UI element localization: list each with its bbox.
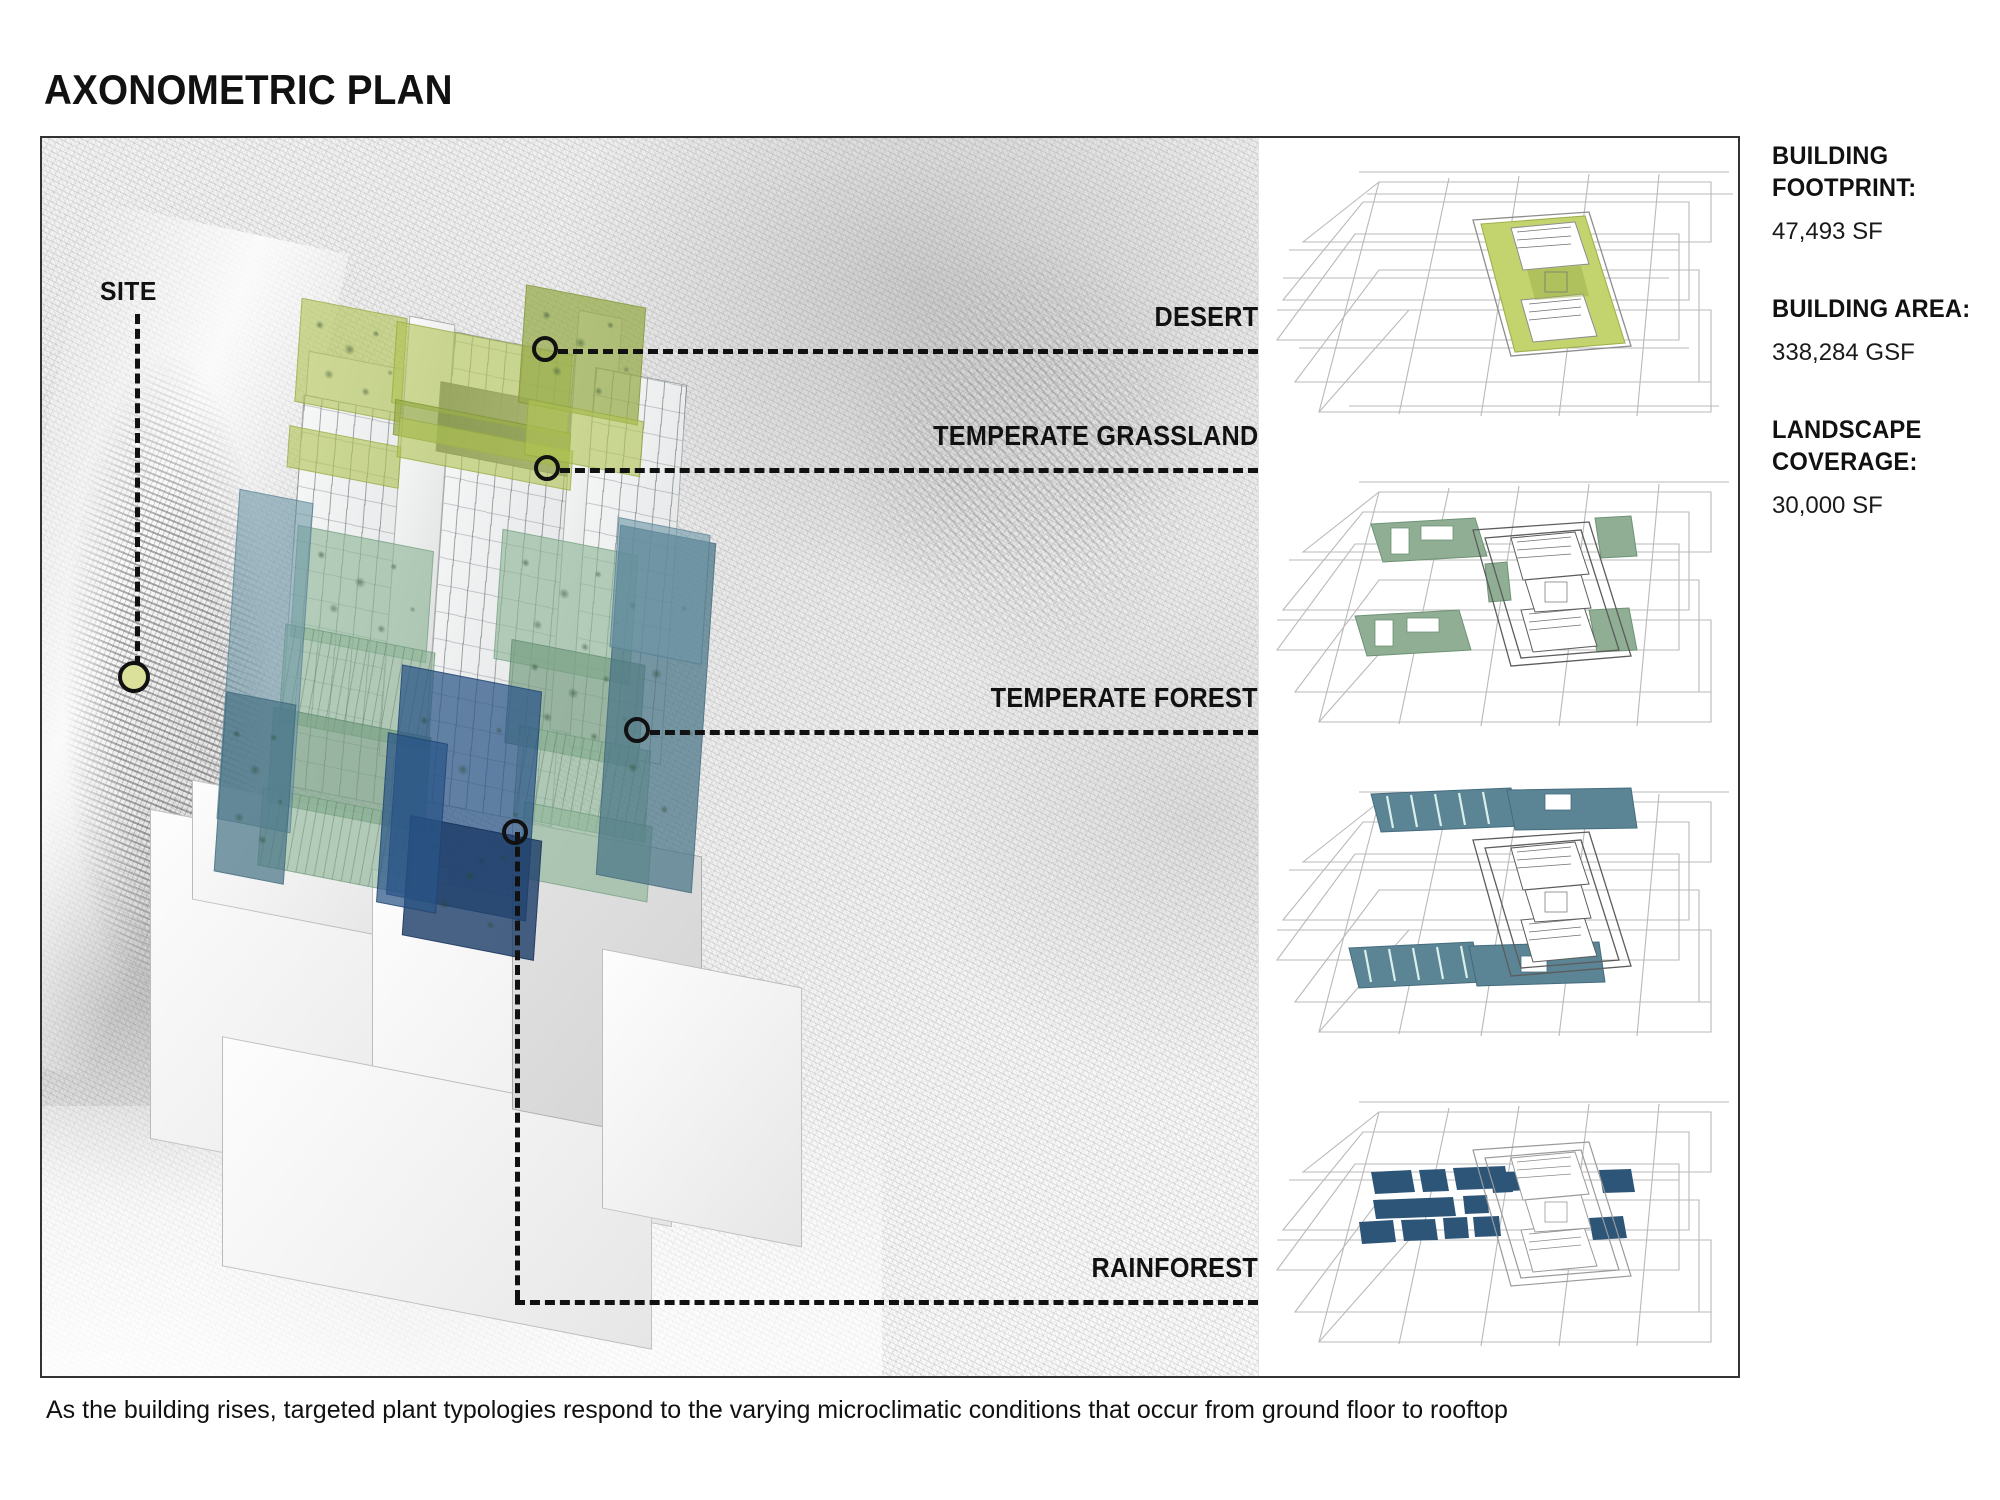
stat-value-area: 338,284 GSF: [1772, 337, 1982, 368]
page-title: AXONOMETRIC PLAN: [44, 66, 453, 114]
zone-desert-roof-west: [294, 298, 407, 423]
callout-label-desert: DESERT: [1154, 301, 1258, 333]
figure-caption: As the building rises, targeted plant ty…: [46, 1396, 1508, 1425]
stat-building-footprint: BUILDING FOOTPRINT: 47,493 SF: [1772, 140, 1982, 247]
site-marker-dot: [118, 661, 150, 693]
callout-label-grassland: TEMPERATE GRASSLAND: [933, 420, 1258, 452]
callout-dot-desert: [532, 336, 558, 362]
project-statistics: BUILDING FOOTPRINT: 47,493 SF BUILDING A…: [1772, 140, 1982, 568]
site-leader-line: [135, 314, 140, 666]
plan-diagram-grassland: [1259, 460, 1740, 770]
plan-grassland-svg: [1259, 460, 1740, 770]
stat-landscape-coverage: LANDSCAPE COVERAGE: 30,000 SF: [1772, 414, 1982, 521]
plan-desert-svg: [1259, 150, 1740, 460]
stat-label-area: BUILDING AREA:: [1772, 293, 1972, 325]
stat-building-area: BUILDING AREA: 338,284 GSF: [1772, 293, 1982, 368]
aerial-urban-fabric-right: [818, 198, 1238, 718]
drawing-frame: SITE DESERT TEMPERATE GRASSLAND TEMPERAT…: [40, 136, 1740, 1378]
callout-dot-forest: [624, 717, 650, 743]
plan-diagram-column: [1258, 138, 1740, 1376]
callout-line-forest: [650, 730, 1258, 735]
stat-label-landscape: LANDSCAPE COVERAGE:: [1772, 414, 1972, 478]
zone-forest-slab-west-lower: [214, 691, 297, 885]
callout-line-rainforest-vertical: [515, 832, 520, 1300]
axonometric-aerial-panel: SITE DESERT TEMPERATE GRASSLAND TEMPERAT…: [42, 138, 1258, 1376]
zone-rainforest-plaza: [376, 732, 448, 914]
site-label: SITE: [100, 276, 157, 307]
plan-diagram-rainforest: [1259, 1080, 1740, 1378]
plan-diagram-desert: [1259, 150, 1740, 460]
plan-forest-svg: [1259, 770, 1740, 1080]
callout-line-desert: [558, 349, 1258, 354]
stat-value-landscape: 30,000 SF: [1772, 490, 1982, 521]
callout-label-forest: TEMPERATE FOREST: [991, 682, 1258, 714]
callout-label-rainforest: RAINFOREST: [1092, 1252, 1259, 1284]
stat-label-footprint: BUILDING FOOTPRINT:: [1772, 140, 1972, 204]
massing-podium-east-low: [602, 949, 802, 1248]
plan-rainforest-svg: [1259, 1080, 1740, 1378]
stat-value-footprint: 47,493 SF: [1772, 216, 1982, 247]
callout-dot-grassland: [534, 455, 560, 481]
zone-forest-slab-east-upper: [609, 517, 710, 665]
plan-diagram-forest: [1259, 770, 1740, 1080]
callout-line-rainforest: [515, 1300, 1258, 1305]
callout-line-grassland: [560, 468, 1258, 473]
